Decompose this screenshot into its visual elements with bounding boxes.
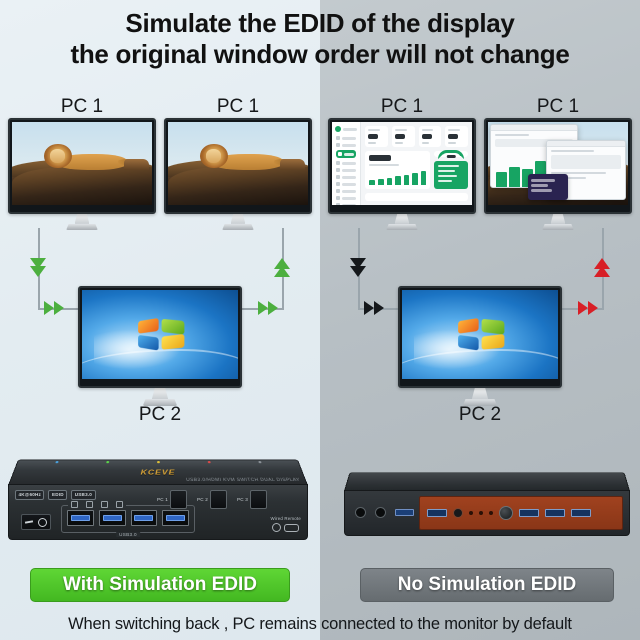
verdict-badge-left: With Simulation EDID (30, 568, 290, 602)
dashboard-promo-card (434, 161, 468, 189)
arrow-right-green-icon-4 (268, 301, 278, 315)
kvm-wired-remote-label: Wired Remote (271, 516, 301, 521)
audio-jack-1-icon[interactable] (355, 507, 366, 518)
round-jack-1-icon[interactable] (453, 508, 463, 518)
label-left-top-monitor-1: PC 1 (12, 96, 152, 118)
right-top-monitor-2 (484, 118, 632, 214)
left-top-monitor-1 (8, 118, 156, 214)
footer-note: When switching back , PC remains connect… (0, 615, 640, 634)
kvm-feature-badges: 4K@60Hz EDID USB3.0 (15, 490, 96, 500)
arrow-right-red-icon (578, 301, 588, 315)
left-top-monitor-2-stand (216, 214, 260, 230)
power-off-icon (38, 518, 47, 527)
arrow-right-green-icon-3 (258, 301, 268, 315)
indicator-dot-3-icon (489, 511, 493, 515)
indicator-dot-2-icon (479, 511, 483, 515)
desktop-widget-tile[interactable] (528, 174, 568, 200)
kvm-right-jacks[interactable] (345, 491, 419, 535)
arrow-right-black-icon-2 (374, 301, 384, 315)
arrow-right-red-icon-2 (588, 301, 598, 315)
keyboard-icon (86, 501, 93, 508)
arrow-right-green-icon (44, 301, 54, 315)
kvm-front-face: 4K@60Hz EDID USB3.0 (8, 484, 308, 540)
mouse-icon (71, 501, 78, 508)
hdmi-port-4-icon[interactable] (571, 509, 591, 517)
right-top-monitor-1 (328, 118, 476, 214)
arrow-right-green-icon-2 (54, 301, 64, 315)
left-top-monitor-1-stand (60, 214, 104, 230)
bar-chart-bars (369, 166, 426, 185)
kvm-switch-device-left[interactable]: KCEVE USB3.0/HDMI KVM SWITCH DUAL DISPLA… (8, 452, 308, 540)
left-bottom-monitor (78, 286, 242, 388)
kvm-top-surface: KCEVE USB3.0/HDMI KVM SWITCH DUAL DISPLA… (8, 460, 308, 486)
kvm-peripheral-icons (68, 501, 126, 508)
windows-logo-icon (458, 318, 504, 350)
infographic-root: Simulate the EDID of the display the ori… (0, 0, 640, 640)
kvm-pc1-label: PC 1 (157, 497, 168, 502)
kvm-right-front-face (344, 490, 630, 536)
right-top-monitor-2-stand (536, 214, 580, 230)
desktop-window-stack (488, 122, 628, 205)
label-left-bottom-monitor: PC 2 (100, 404, 220, 426)
dashboard-gauge (434, 151, 468, 157)
usb-port-3[interactable] (131, 510, 158, 526)
arrow-down-green-icon-2 (30, 266, 46, 277)
usb-port-2[interactable] (99, 510, 126, 526)
label-left-top-monitor-2: PC 1 (168, 96, 308, 118)
title-line-2: the original window order will not chang… (0, 39, 640, 70)
label-right-top-monitor-2: PC 1 (488, 96, 628, 118)
arrow-up-red-icon-2 (594, 266, 610, 277)
kvm-pc2-label: PC 2 (197, 497, 208, 502)
analytics-dashboard-screen (332, 122, 472, 205)
label-right-top-monitor-1: PC 1 (332, 96, 472, 118)
remote-jack-icon (272, 523, 281, 532)
control-knob-icon[interactable] (499, 506, 513, 520)
kvm-right-top-surface (344, 472, 630, 491)
windows7-wallpaper (82, 290, 238, 379)
kvm-pc1-group[interactable]: PC 1 (157, 490, 187, 509)
kvm-pc1-button[interactable] (170, 490, 187, 509)
usb-port-1[interactable] (67, 510, 94, 526)
lion-wallpaper (12, 122, 152, 205)
right-top-monitor-1-stand (380, 214, 424, 230)
kvm-right-port-panel[interactable] (419, 496, 623, 531)
kvm-power-switch[interactable] (21, 514, 51, 530)
arrow-down-black-icon-2 (350, 266, 366, 277)
usb-port-4[interactable] (162, 510, 189, 526)
kvm-usb-ports[interactable] (67, 510, 189, 526)
kvm-pc3-group[interactable]: PC 3 (237, 490, 267, 509)
dashboard-sidebar (332, 122, 361, 205)
kvm-wired-remote-area[interactable]: Wired Remote (271, 516, 301, 532)
arrow-right-black-icon (364, 301, 374, 315)
title-line-1: Simulate the EDID of the display (125, 8, 514, 38)
kvm-badge-usb: USB3.0 (71, 490, 95, 500)
left-top-monitor-2 (164, 118, 312, 214)
power-on-icon (25, 520, 33, 523)
kvm-pc2-button[interactable] (210, 490, 227, 509)
indicator-dot-1-icon (469, 511, 473, 515)
windows-logo-icon (138, 318, 184, 350)
kvm-pc2-group[interactable]: PC 2 (197, 490, 227, 509)
arrow-up-green-icon-2 (274, 266, 290, 277)
hdmi-port-1-icon[interactable] (427, 509, 447, 517)
kvm-badge-4k: 4K@60Hz (15, 490, 44, 500)
label-right-bottom-monitor: PC 2 (420, 404, 540, 426)
kvm-led-row (18, 461, 299, 463)
kvm-badge-edid: EDID (48, 490, 67, 500)
kvm-brand-label: KCEVE (140, 468, 175, 476)
lion-wallpaper (168, 122, 308, 205)
hdmi-port-3-icon[interactable] (545, 509, 565, 517)
kvm-pc3-button[interactable] (250, 490, 267, 509)
dashboard-kpi-row (365, 126, 468, 147)
kvm-usb-group-label: USB3.0 (116, 532, 140, 537)
windows7-wallpaper (402, 290, 558, 379)
audio-jack-2-icon[interactable] (375, 507, 386, 518)
kvm-pc-buttons[interactable]: PC 1 PC 2 PC 3 (157, 490, 267, 509)
hdmi-port-2-icon[interactable] (519, 509, 539, 517)
remote-connector-icon (284, 524, 299, 532)
kvm-usb-port-group: USB3.0 (61, 505, 195, 533)
printer-icon (101, 501, 108, 508)
kvm-model-label: USB3.0/HDMI KVM SWITCH DUAL DISPLAY (186, 478, 301, 483)
kvm-switch-device-right[interactable] (344, 468, 630, 536)
verdict-badge-right: No Simulation EDID (360, 568, 614, 602)
right-bottom-monitor (398, 286, 562, 388)
page-title: Simulate the EDID of the display the ori… (0, 8, 640, 69)
lock-icon (116, 501, 123, 508)
kvm-pc3-label: PC 3 (237, 497, 248, 502)
dashboard-bar-chart (365, 151, 430, 189)
usb-port-icon[interactable] (395, 509, 414, 516)
